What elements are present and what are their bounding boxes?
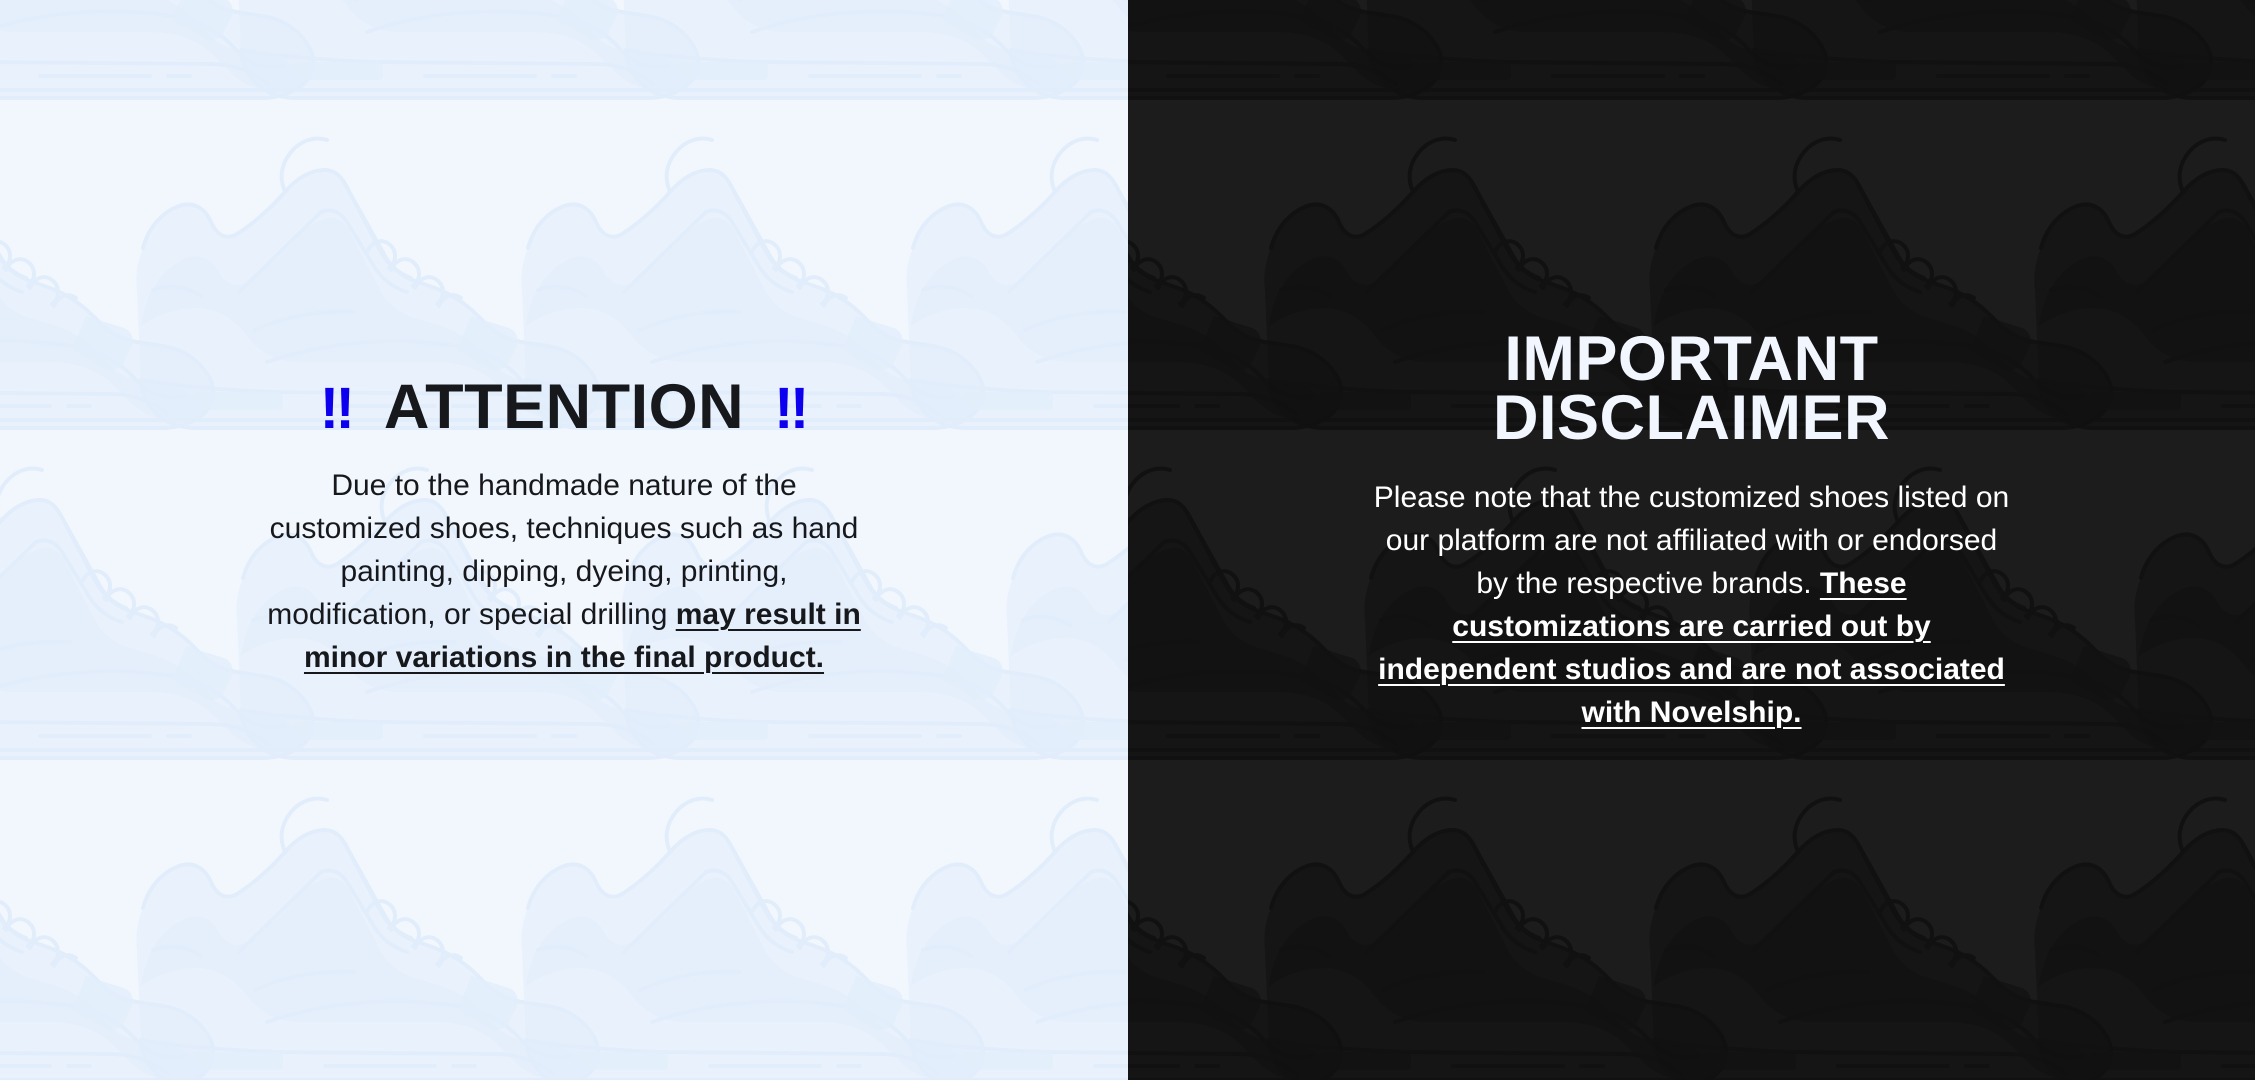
disclaimer-body-text: Please note that the customized shoes li… <box>1372 476 2012 734</box>
double-exclamation-right-icon: ‼ <box>774 380 808 438</box>
attention-heading: ‼ ATTENTION ‼ <box>320 376 808 439</box>
disclaimer-body-normal: Please note that the customized shoes li… <box>1374 481 2009 600</box>
attention-panel: ‼ ATTENTION ‼ Due to the handmade nature… <box>0 0 1128 1080</box>
attention-body-text: Due to the handmade nature of the custom… <box>264 464 864 679</box>
attention-content: ‼ ATTENTION ‼ Due to the handmade nature… <box>0 0 1128 1080</box>
disclaimer-panel: IMPORTANT DISCLAIMER Please note that th… <box>1128 0 2255 1080</box>
attention-title: ATTENTION <box>384 376 744 439</box>
double-exclamation-left-icon: ‼ <box>320 380 354 438</box>
disclaimer-content: IMPORTANT DISCLAIMER Please note that th… <box>1128 0 2255 1080</box>
disclaimer-heading: IMPORTANT DISCLAIMER <box>1372 330 2012 448</box>
dual-panel-notice: ‼ ATTENTION ‼ Due to the handmade nature… <box>0 0 2255 1080</box>
disclaimer-heading-line2: DISCLAIMER <box>1493 383 1890 453</box>
